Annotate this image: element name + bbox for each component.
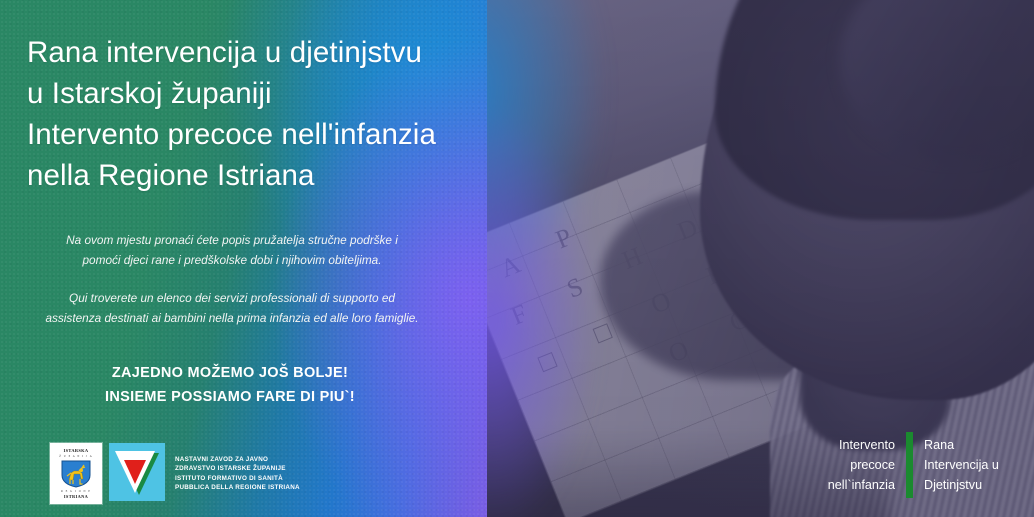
coat-bottom-label: ISTRIANA [64, 494, 88, 500]
title-line-1: Rana intervencija u djetinjstvu [27, 32, 477, 73]
lockup-hr-line-2: Intervencija u [924, 455, 1034, 475]
title-line-4: nella Regione Istriana [27, 155, 477, 196]
title-line-3: Intervento precoce nell'infanzia [27, 114, 477, 155]
coat-top-sub: Ž U P A N I J A [59, 454, 93, 459]
istria-goat-shield-icon [61, 460, 91, 488]
slogan-line-hr: ZAJEDNO MOŽEMO JOŠ BOLJE! [20, 361, 440, 385]
intro-it-line-1: Qui troverete un elenco dei servizi prof… [12, 288, 452, 308]
title-line-2: u Istarskoj županiji [27, 73, 477, 114]
institute-line-2: ZDRAVSTVO ISTARSKE ŽUPANIJE [175, 464, 300, 473]
institute-name: NASTAVNI ZAVOD ZA JAVNO ZDRAVSTVO ISTARS… [175, 455, 300, 492]
istria-county-coat-of-arms-logo[interactable]: ISTARSKA Ž U P A N I J A R E G I O N E I… [50, 443, 102, 504]
intro-hr-line-2: pomoći djeci rane i predškolske dobi i n… [12, 250, 452, 270]
slogan-line-it: INSIEME POSSIAMO FARE DI PIU`! [20, 385, 440, 409]
lockup-hr-line-1: Rana [924, 435, 1034, 455]
intro-hr-line-1: Na ovom mjestu pronaći ćete popis pružat… [12, 230, 452, 250]
institute-line-1: NASTAVNI ZAVOD ZA JAVNO [175, 455, 300, 464]
institute-line-3: ISTITUTO FORMATIVO DI SANITÀ [175, 474, 300, 483]
promo-banner: A P F S H D □ O R O C □ Rana intervencij… [0, 0, 1034, 517]
lockup-italian: Intervento precoce nell`infanzia [812, 435, 895, 495]
lockup-it-line-1: Intervento [812, 435, 895, 455]
inverted-triangle-logo-icon[interactable] [109, 443, 165, 501]
lockup-it-line-3: nell`infanzia [812, 475, 895, 495]
paragraph-gap [12, 270, 452, 288]
intro-it-line-2: assistenza destinati ai bambini nella pr… [12, 308, 452, 328]
institute-line-4: PUBBLICA DELLA REGIONE ISTRIANA [175, 483, 300, 492]
lockup-croatian: Rana Intervencija u Djetinjstvu [924, 435, 1034, 495]
brand-lockup: Intervento precoce nell`infanzia Rana In… [812, 432, 1034, 498]
slogan: ZAJEDNO MOŽEMO JOŠ BOLJE! INSIEME POSSIA… [20, 361, 440, 409]
lockup-it-line-2: precoce [812, 455, 895, 475]
lockup-divider-bar [906, 432, 913, 498]
intro-paragraphs: Na ovom mjestu pronaći ćete popis pružat… [12, 230, 452, 328]
page-title: Rana intervencija u djetinjstvu u Istars… [27, 32, 477, 196]
logo-row: ISTARSKA Ž U P A N I J A R E G I O N E I… [50, 443, 300, 504]
lockup-hr-line-3: Djetinjstvu [924, 475, 1034, 495]
